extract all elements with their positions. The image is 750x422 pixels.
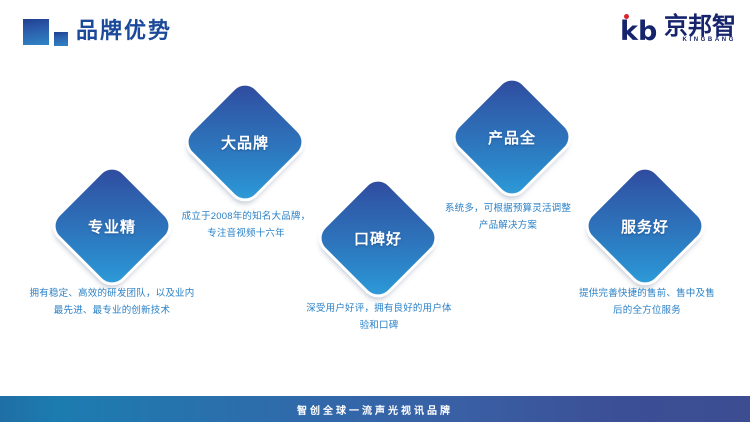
- advantage-desc-5: 提供完善快捷的售前、售中及售后的全方位服务: [578, 285, 716, 319]
- advantage-card-4[interactable]: 产品全: [452, 77, 572, 197]
- logo-mark-icon: kb: [620, 14, 666, 46]
- page-title: 品牌优势: [76, 16, 172, 46]
- logo-mark-text: kb: [620, 18, 657, 45]
- decor-square-small-icon: [54, 32, 68, 46]
- advantage-desc-4: 系统多，可根据预算灵活调整产品解决方案: [443, 200, 573, 234]
- advantage-card-1[interactable]: 专业精: [52, 166, 172, 286]
- diamond-shape-5: [583, 164, 707, 288]
- diamond-shape-1: [50, 164, 174, 288]
- slide-canvas: 品牌优势 kb 京邦智 KINGBANG 专业精 拥有稳定、高效的研发团队，以及…: [0, 0, 750, 422]
- advantage-card-2[interactable]: 大品牌: [185, 82, 305, 202]
- advantage-desc-1: 拥有稳定、高效的研发团队，以及业内最先进、最专业的创新技术: [26, 285, 198, 319]
- diamond-shape-3: [316, 176, 440, 300]
- slide-footer: 智创全球一流声光视讯品牌: [0, 396, 750, 422]
- logo-chinese-name: 京邦智: [664, 14, 736, 39]
- logo-wordmark: 京邦智 KINGBANG: [666, 14, 736, 43]
- advantage-desc-2: 成立于2008年的知名大品牌，专注音视频十六年: [178, 208, 314, 242]
- advantage-card-5[interactable]: 服务好: [585, 166, 705, 286]
- decor-square-large-icon: [23, 19, 49, 45]
- advantage-card-3[interactable]: 口碑好: [318, 178, 438, 298]
- footer-slogan: 智创全球一流声光视讯品牌: [297, 402, 453, 417]
- brand-logo: kb 京邦智 KINGBANG: [620, 14, 736, 48]
- logo-english-name: KINGBANG: [666, 37, 736, 43]
- advantage-desc-3: 深受用户好评，拥有良好的用户体验和口碑: [305, 300, 453, 334]
- diamond-shape-4: [450, 75, 574, 199]
- diamond-shape-2: [183, 80, 307, 204]
